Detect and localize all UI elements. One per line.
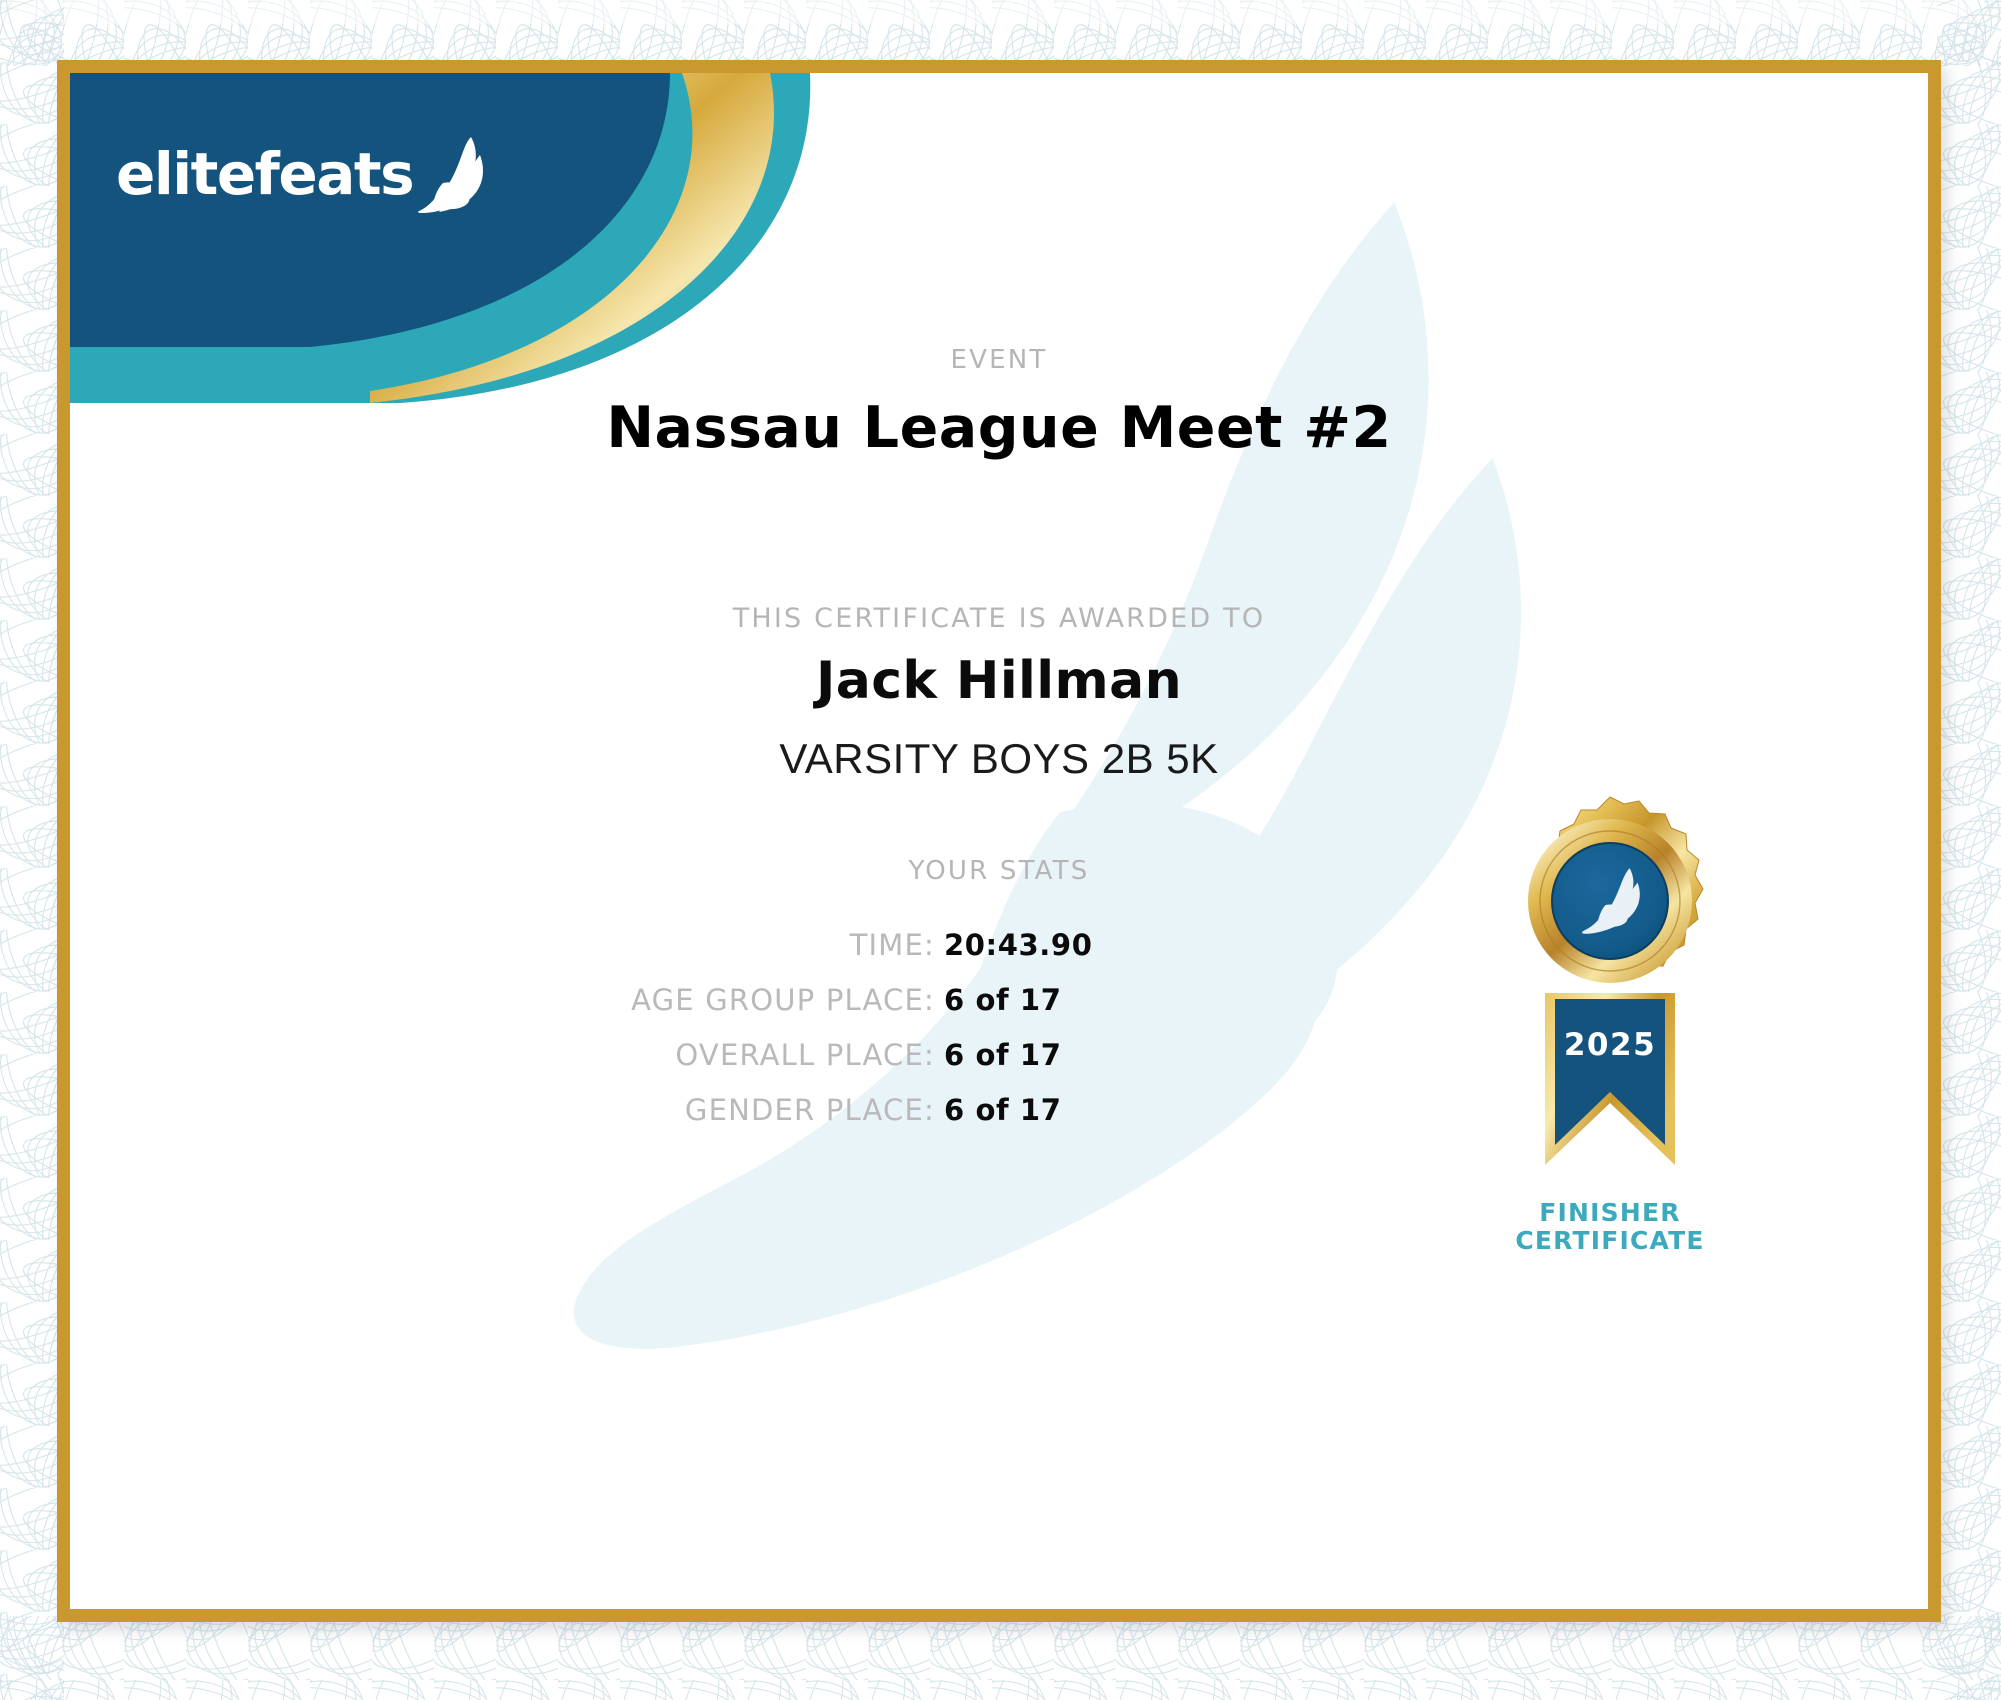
stat-key-gender-place: GENDER PLACE: xyxy=(483,1093,935,1127)
stat-value-overall-place: 6 of 17 xyxy=(944,1038,1061,1072)
stat-value-time: 20:43.90 xyxy=(944,928,1092,962)
event-label: EVENT xyxy=(70,345,1928,375)
stat-value-age-group-place: 6 of 17 xyxy=(944,983,1061,1017)
event-title: Nassau League Meet #2 xyxy=(70,395,1928,461)
awarded-to-label: THIS CERTIFICATE IS AWARDED TO xyxy=(70,603,1928,634)
seal-caption-line2: CERTIFICATE xyxy=(1475,1227,1745,1255)
finisher-medal-seal: 2025 xyxy=(1475,793,1745,1255)
medal-year: 2025 xyxy=(1564,1027,1656,1063)
recipient-name: Jack Hillman xyxy=(70,651,1928,711)
certificate-page: elitefeats EVENT Nassau League Meet #2 T… xyxy=(0,0,2001,1700)
stat-key-age-group-place: AGE GROUP PLACE: xyxy=(483,983,935,1017)
seal-caption-line1: FINISHER xyxy=(1475,1199,1745,1227)
stat-key-time: TIME: xyxy=(483,928,935,962)
stat-value-gender-place: 6 of 17 xyxy=(944,1093,1061,1127)
winged-foot-icon xyxy=(417,135,487,213)
elitefeats-logo: elitefeats xyxy=(116,135,487,213)
stat-key-overall-place: OVERALL PLACE: xyxy=(483,1038,935,1072)
certificate-frame: elitefeats EVENT Nassau League Meet #2 T… xyxy=(57,60,1941,1622)
seal-caption: FINISHER CERTIFICATE xyxy=(1475,1199,1745,1255)
division-label: VARSITY BOYS 2B 5K xyxy=(70,735,1928,783)
brand-wordmark: elitefeats xyxy=(116,145,413,203)
medal-ribbon-icon: 2025 xyxy=(1475,793,1745,1193)
